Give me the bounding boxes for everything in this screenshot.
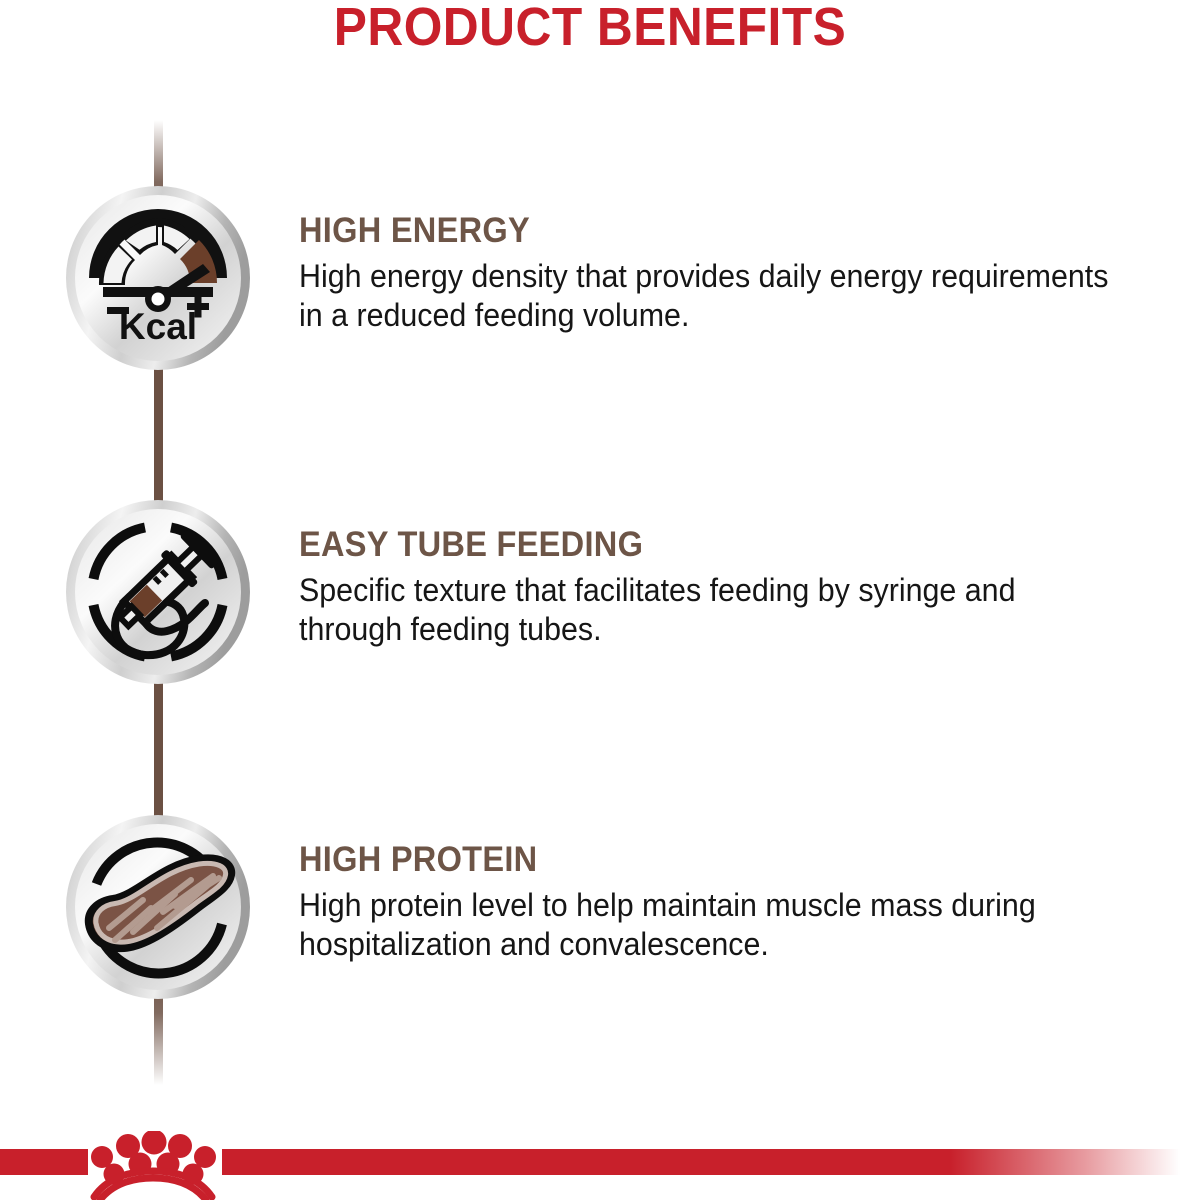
- benefit-text-high-protein: HIGH PROTEIN High protein level to help …: [299, 840, 1159, 964]
- royal-canin-crown-logo: [80, 1131, 226, 1200]
- kcal-gauge-icon: Kcal: [63, 183, 253, 373]
- footer: [0, 1113, 1180, 1200]
- product-benefits-page: PRODUCT BENEFITS: [0, 0, 1180, 1200]
- benefit-text-easy-tube-feeding: EASY TUBE FEEDING Specific texture that …: [299, 525, 1159, 649]
- page-title: PRODUCT BENEFITS: [47, 0, 1133, 58]
- kcal-gauge-text: Kcal: [119, 306, 197, 347]
- footer-bar-left: [0, 1149, 88, 1175]
- benefit-heading: HIGH PROTEIN: [299, 840, 1099, 880]
- muscle-fiber-icon: [63, 812, 253, 1002]
- benefit-body: Specific texture that facilitates feedin…: [299, 571, 1116, 649]
- benefit-body: High protein level to help maintain musc…: [299, 886, 1116, 964]
- benefit-text-high-energy: HIGH ENERGY High energy density that pro…: [299, 211, 1159, 335]
- benefit-heading: EASY TUBE FEEDING: [299, 525, 1099, 565]
- syringe-tube-icon: [63, 497, 253, 687]
- benefit-heading: HIGH ENERGY: [299, 211, 1099, 251]
- footer-bar-right: [222, 1149, 1180, 1175]
- benefit-body: High energy density that provides daily …: [299, 257, 1116, 335]
